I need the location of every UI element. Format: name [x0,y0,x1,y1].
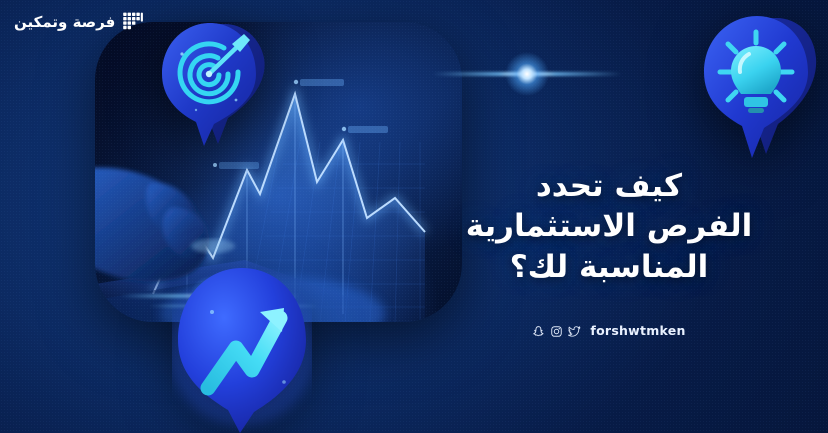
headline: كيف تحدد الفرص الاستثمارية المناسبة لك؟ [418,166,800,287]
flare-core [505,52,549,96]
twitter-icon[interactable] [568,325,581,338]
social-banner: فرصة وتمكين كيف تحدد الفرص الاستثمارية ا… [0,0,828,433]
waffle-grid-logo-icon [122,10,146,34]
social-handle-row: forshwtmken [418,325,800,338]
headline-line-2: الفرص الاستثمارية [418,206,800,246]
snapchat-icon[interactable] [532,325,545,338]
instagram-icon[interactable] [550,325,563,338]
headline-line-3: المناسبة لك؟ [418,247,800,287]
target-dart-pin [152,18,268,152]
brand-name: فرصة وتمكين [14,15,115,30]
growth-arrow-pin [172,262,312,433]
lightbulb-pin [694,12,820,164]
headline-line-1: كيف تحدد [418,166,800,206]
social-handle-text: forshwtmken [590,325,685,338]
brand-lockup: فرصة وتمكين [14,10,146,34]
